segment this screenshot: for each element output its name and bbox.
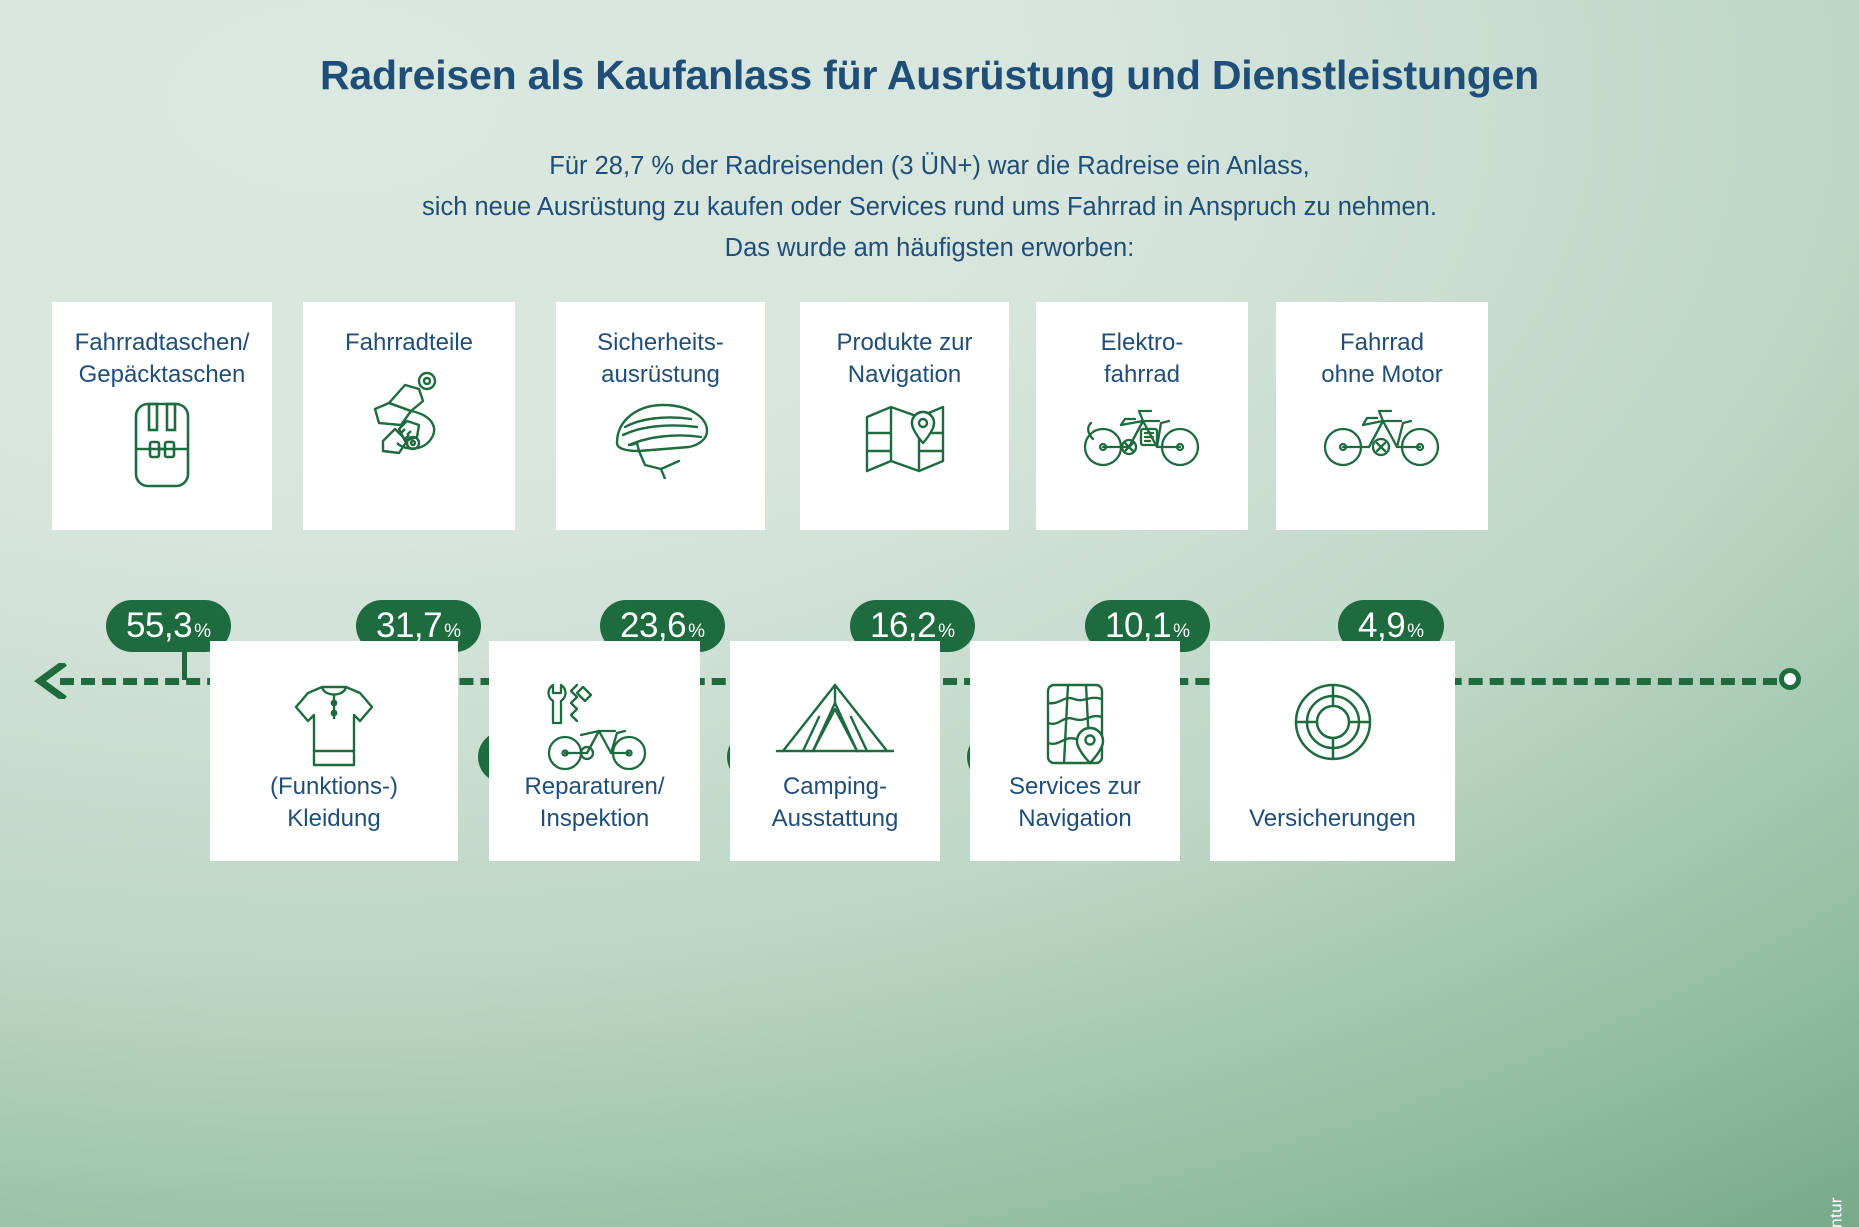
bike-repair-tools-icon (489, 679, 700, 773)
card-camping[interactable]: Camping- Ausstattung (730, 641, 940, 861)
card-label: Versicherungen (1249, 803, 1416, 835)
card-fahrradtaschen[interactable]: Fahrradtaschen/ Gepäcktaschen (52, 302, 272, 530)
badge-percent-symbol: % (938, 606, 955, 658)
card-label: Fahrradtaschen/ Gepäcktaschen (75, 327, 250, 391)
card-services-navigation[interactable]: Services zur Navigation (970, 641, 1180, 861)
card-label: Produkte zur Navigation (836, 327, 972, 391)
card-produkte-zur-navigation[interactable]: Produkte zur Navigation (800, 302, 1009, 530)
subtitle-line-1: Für 28,7 % der Radreisenden (3 ÜN+) war … (0, 146, 1859, 187)
card-fahrrad-ohne-motor[interactable]: Fahrrad ohne Motor (1276, 302, 1488, 530)
copyright-notice: ©ADFC/april agentur (1827, 1197, 1847, 1227)
card-label: Fahrradteile (345, 327, 473, 359)
badge-stem (182, 650, 187, 680)
jersey-shirt-icon (210, 679, 458, 773)
card-label: (Funktions-) Kleidung (270, 771, 398, 835)
card-versicherungen[interactable]: Versicherungen (1210, 641, 1455, 861)
page-title: Radreisen als Kaufanlass für Ausrüstung … (0, 52, 1859, 99)
derailleur-icon (361, 367, 457, 461)
card-label: Camping- Ausstattung (772, 771, 899, 835)
infographic-canvas: Radreisen als Kaufanlass für Ausrüstung … (0, 0, 1859, 1227)
card-sicherheitsausruestung[interactable]: Sicherheits- ausrüstung (556, 302, 765, 530)
card-reparaturen[interactable]: Reparaturen/ Inspektion (489, 641, 700, 861)
helmet-icon (609, 399, 713, 479)
card-fahrradteile[interactable]: Fahrradteile (303, 302, 515, 530)
card-label: Reparaturen/ Inspektion (524, 771, 664, 835)
subtitle-line-2: sich neue Ausrüstung zu kaufen oder Serv… (0, 187, 1859, 228)
tent-icon (730, 679, 940, 761)
card-label: Fahrrad ohne Motor (1321, 327, 1442, 391)
badge-value: 55,3 (126, 600, 192, 652)
navigation-map-icon (970, 679, 1180, 771)
e-bike-icon (1081, 399, 1203, 469)
card-label: Services zur Navigation (1009, 771, 1141, 835)
map-pin-icon (861, 399, 949, 479)
subtitle-line-3: Das wurde am häufigsten erworben: (0, 228, 1859, 269)
page-subtitle: Für 28,7 % der Radreisenden (3 ÜN+) war … (0, 146, 1859, 269)
axis-endpoint-circle-icon (1779, 668, 1801, 690)
card-funktionskleidung[interactable]: (Funktions-) Kleidung (210, 641, 458, 861)
card-label: Sicherheits- ausrüstung (597, 327, 724, 391)
lifebuoy-icon (1210, 679, 1455, 765)
card-elektrofahrrad[interactable]: Elektro- fahrrad (1036, 302, 1248, 530)
card-label: Elektro- fahrrad (1101, 327, 1184, 391)
bicycle-icon (1321, 399, 1443, 469)
badge-percent-symbol: % (194, 606, 211, 658)
pannier-bag-icon (125, 399, 199, 491)
